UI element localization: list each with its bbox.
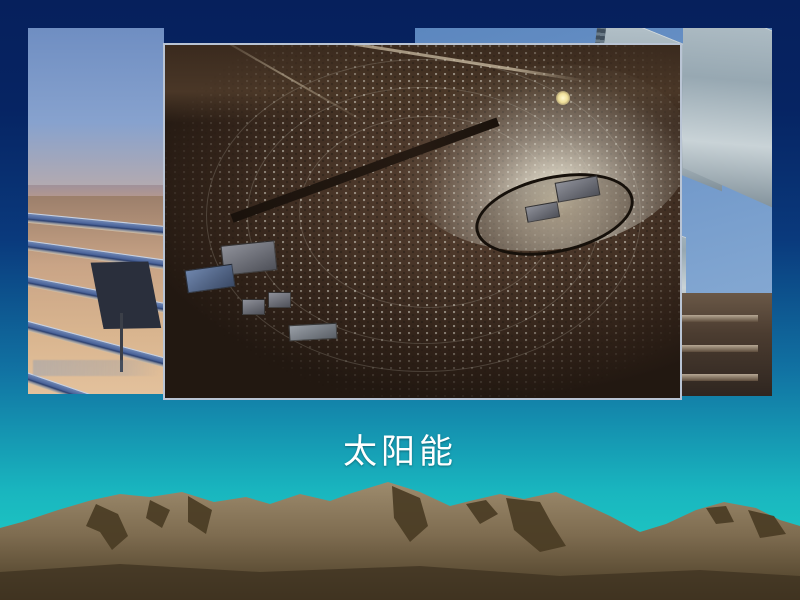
image-solar-power-tower-aerial <box>163 43 682 400</box>
slide-title: 太阳能 <box>0 432 800 473</box>
image-parabolic-trough-field <box>28 28 164 394</box>
faded-caption-artifact <box>33 360 158 376</box>
sky-region <box>28 28 164 200</box>
plant-building <box>242 299 265 315</box>
plant-building <box>268 292 291 308</box>
plant-building <box>288 323 337 342</box>
mountain-silhouette <box>0 480 800 600</box>
presentation-slide: 太阳能 <box>0 0 800 600</box>
